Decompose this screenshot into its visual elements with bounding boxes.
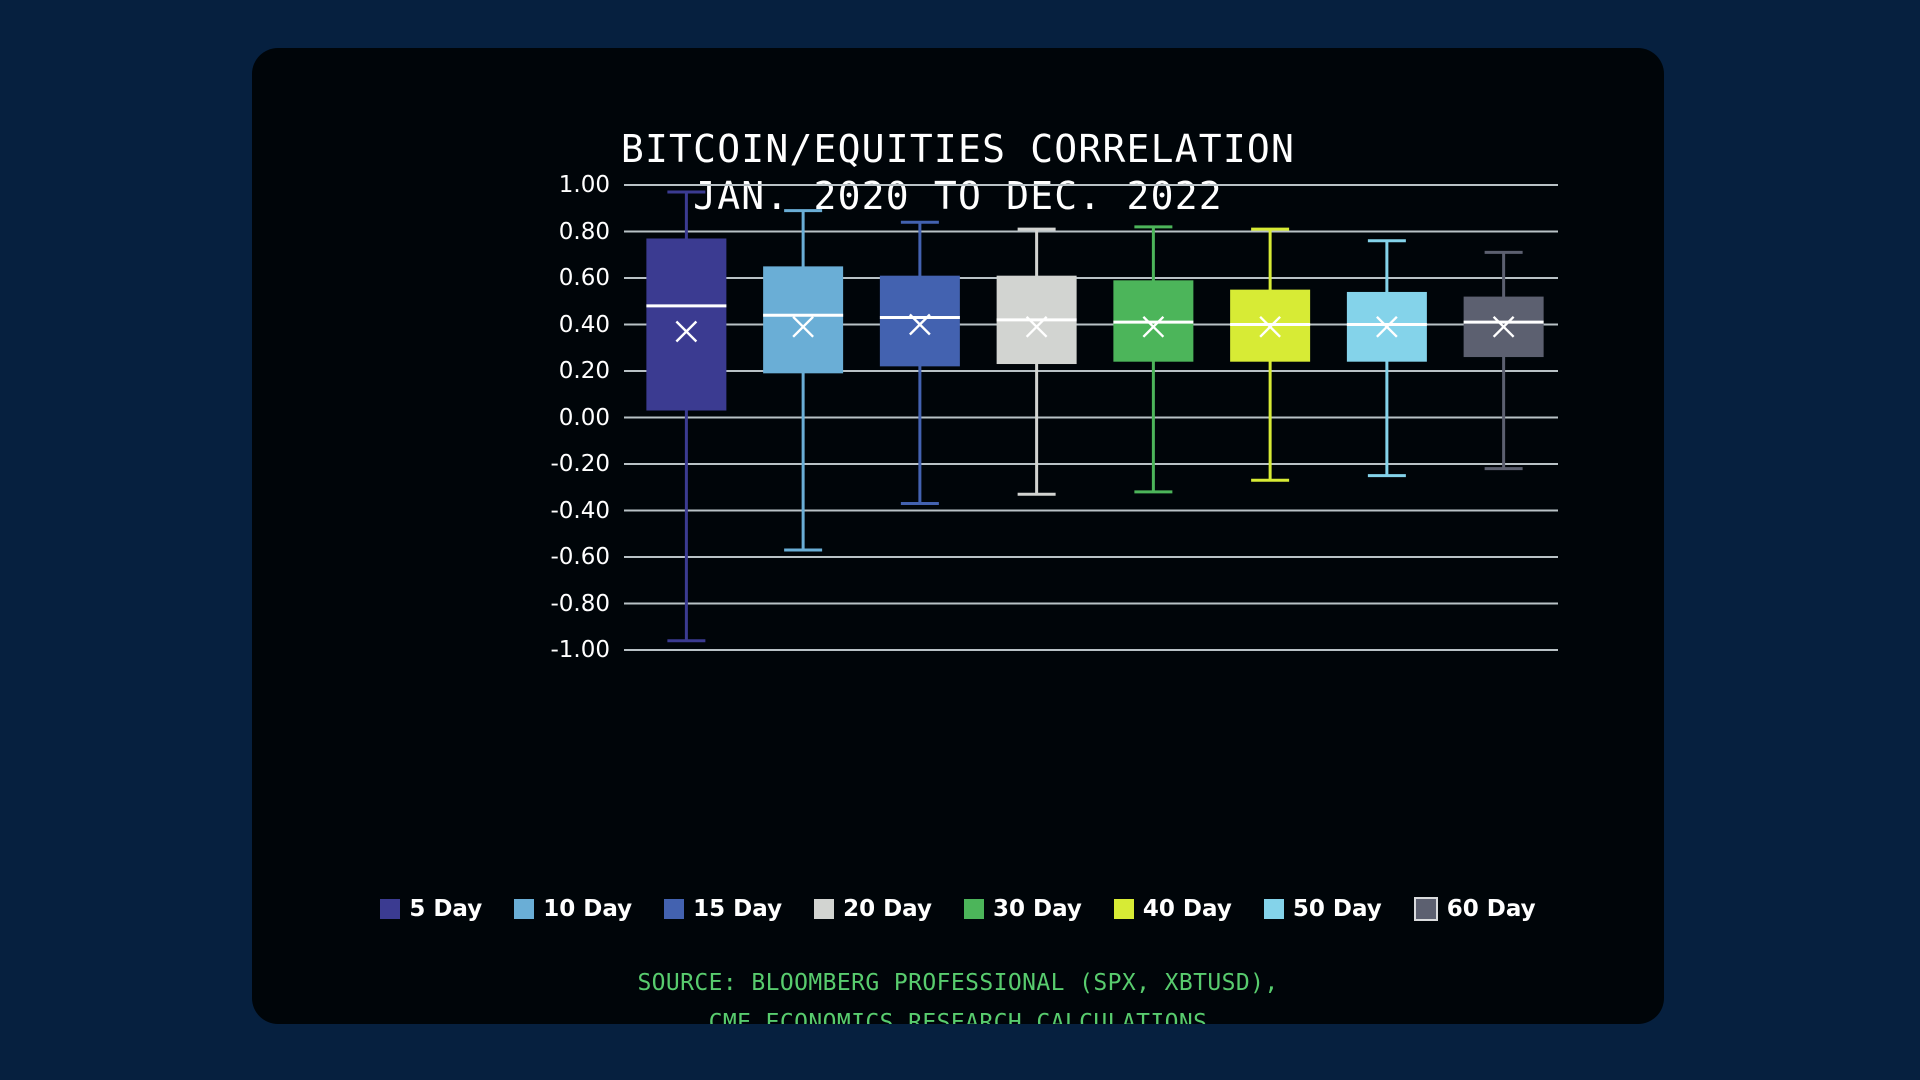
box-group xyxy=(763,211,843,550)
legend-item[interactable]: 15 Day xyxy=(664,896,782,922)
y-axis-tick-label: 1.00 xyxy=(490,172,610,198)
y-axis-tick-label: -1.00 xyxy=(490,637,610,663)
legend-item[interactable]: 20 Day xyxy=(814,896,932,922)
legend-item[interactable]: 60 Day xyxy=(1414,896,1536,922)
y-axis-tick-label: 0.20 xyxy=(490,358,610,384)
legend-label: 10 Day xyxy=(543,896,632,922)
legend-swatch-icon xyxy=(814,899,834,919)
legend-swatch-icon xyxy=(1414,897,1438,921)
box-group xyxy=(1230,229,1310,480)
legend-swatch-icon xyxy=(380,899,400,919)
legend-swatch-icon xyxy=(664,899,684,919)
legend-item[interactable]: 30 Day xyxy=(964,896,1082,922)
box-group xyxy=(880,222,960,503)
plot-svg xyxy=(252,48,1664,1024)
legend-label: 30 Day xyxy=(993,896,1082,922)
y-axis-tick-label: 0.00 xyxy=(490,405,610,431)
box-group xyxy=(1464,252,1544,468)
y-axis-tick-label: 0.80 xyxy=(490,219,610,245)
legend-label: 40 Day xyxy=(1143,896,1232,922)
chart-panel: BITCOIN/EQUITIES CORRELATION JAN. 2020 T… xyxy=(252,48,1664,1024)
legend-item[interactable]: 10 Day xyxy=(514,896,632,922)
legend-label: 5 Day xyxy=(409,896,482,922)
box-group xyxy=(1113,227,1193,492)
y-axis-tick-label: -0.80 xyxy=(490,591,610,617)
legend-label: 15 Day xyxy=(693,896,782,922)
legend-item[interactable]: 50 Day xyxy=(1264,896,1382,922)
box-plot: 1.000.800.600.400.200.00-0.20-0.40-0.60-… xyxy=(252,48,1664,1024)
legend-swatch-icon xyxy=(1114,899,1134,919)
legend-label: 20 Day xyxy=(843,896,932,922)
legend-swatch-icon xyxy=(964,899,984,919)
box-group xyxy=(646,192,726,641)
y-axis-tick-label: -0.60 xyxy=(490,544,610,570)
screenshot-root: BITCOIN/EQUITIES CORRELATION JAN. 2020 T… xyxy=(0,0,1920,1080)
legend-item[interactable]: 40 Day xyxy=(1114,896,1232,922)
legend-label: 50 Day xyxy=(1293,896,1382,922)
box-rect[interactable] xyxy=(763,266,843,373)
box-rect[interactable] xyxy=(646,238,726,410)
legend-label: 60 Day xyxy=(1447,896,1536,922)
box-group xyxy=(997,229,1077,494)
legend: 5 Day10 Day15 Day20 Day30 Day40 Day50 Da… xyxy=(252,896,1664,922)
box-group xyxy=(1347,241,1427,476)
source-note: SOURCE: BLOOMBERG PROFESSIONAL (SPX, XBT… xyxy=(252,963,1664,1024)
y-axis-tick-label: -0.40 xyxy=(490,498,610,524)
legend-item[interactable]: 5 Day xyxy=(380,896,482,922)
legend-swatch-icon xyxy=(1264,899,1284,919)
y-axis-tick-label: 0.40 xyxy=(490,312,610,338)
legend-swatch-icon xyxy=(514,899,534,919)
y-axis-tick-label: 0.60 xyxy=(490,265,610,291)
box-rect[interactable] xyxy=(880,276,960,367)
y-axis-tick-label: -0.20 xyxy=(490,451,610,477)
